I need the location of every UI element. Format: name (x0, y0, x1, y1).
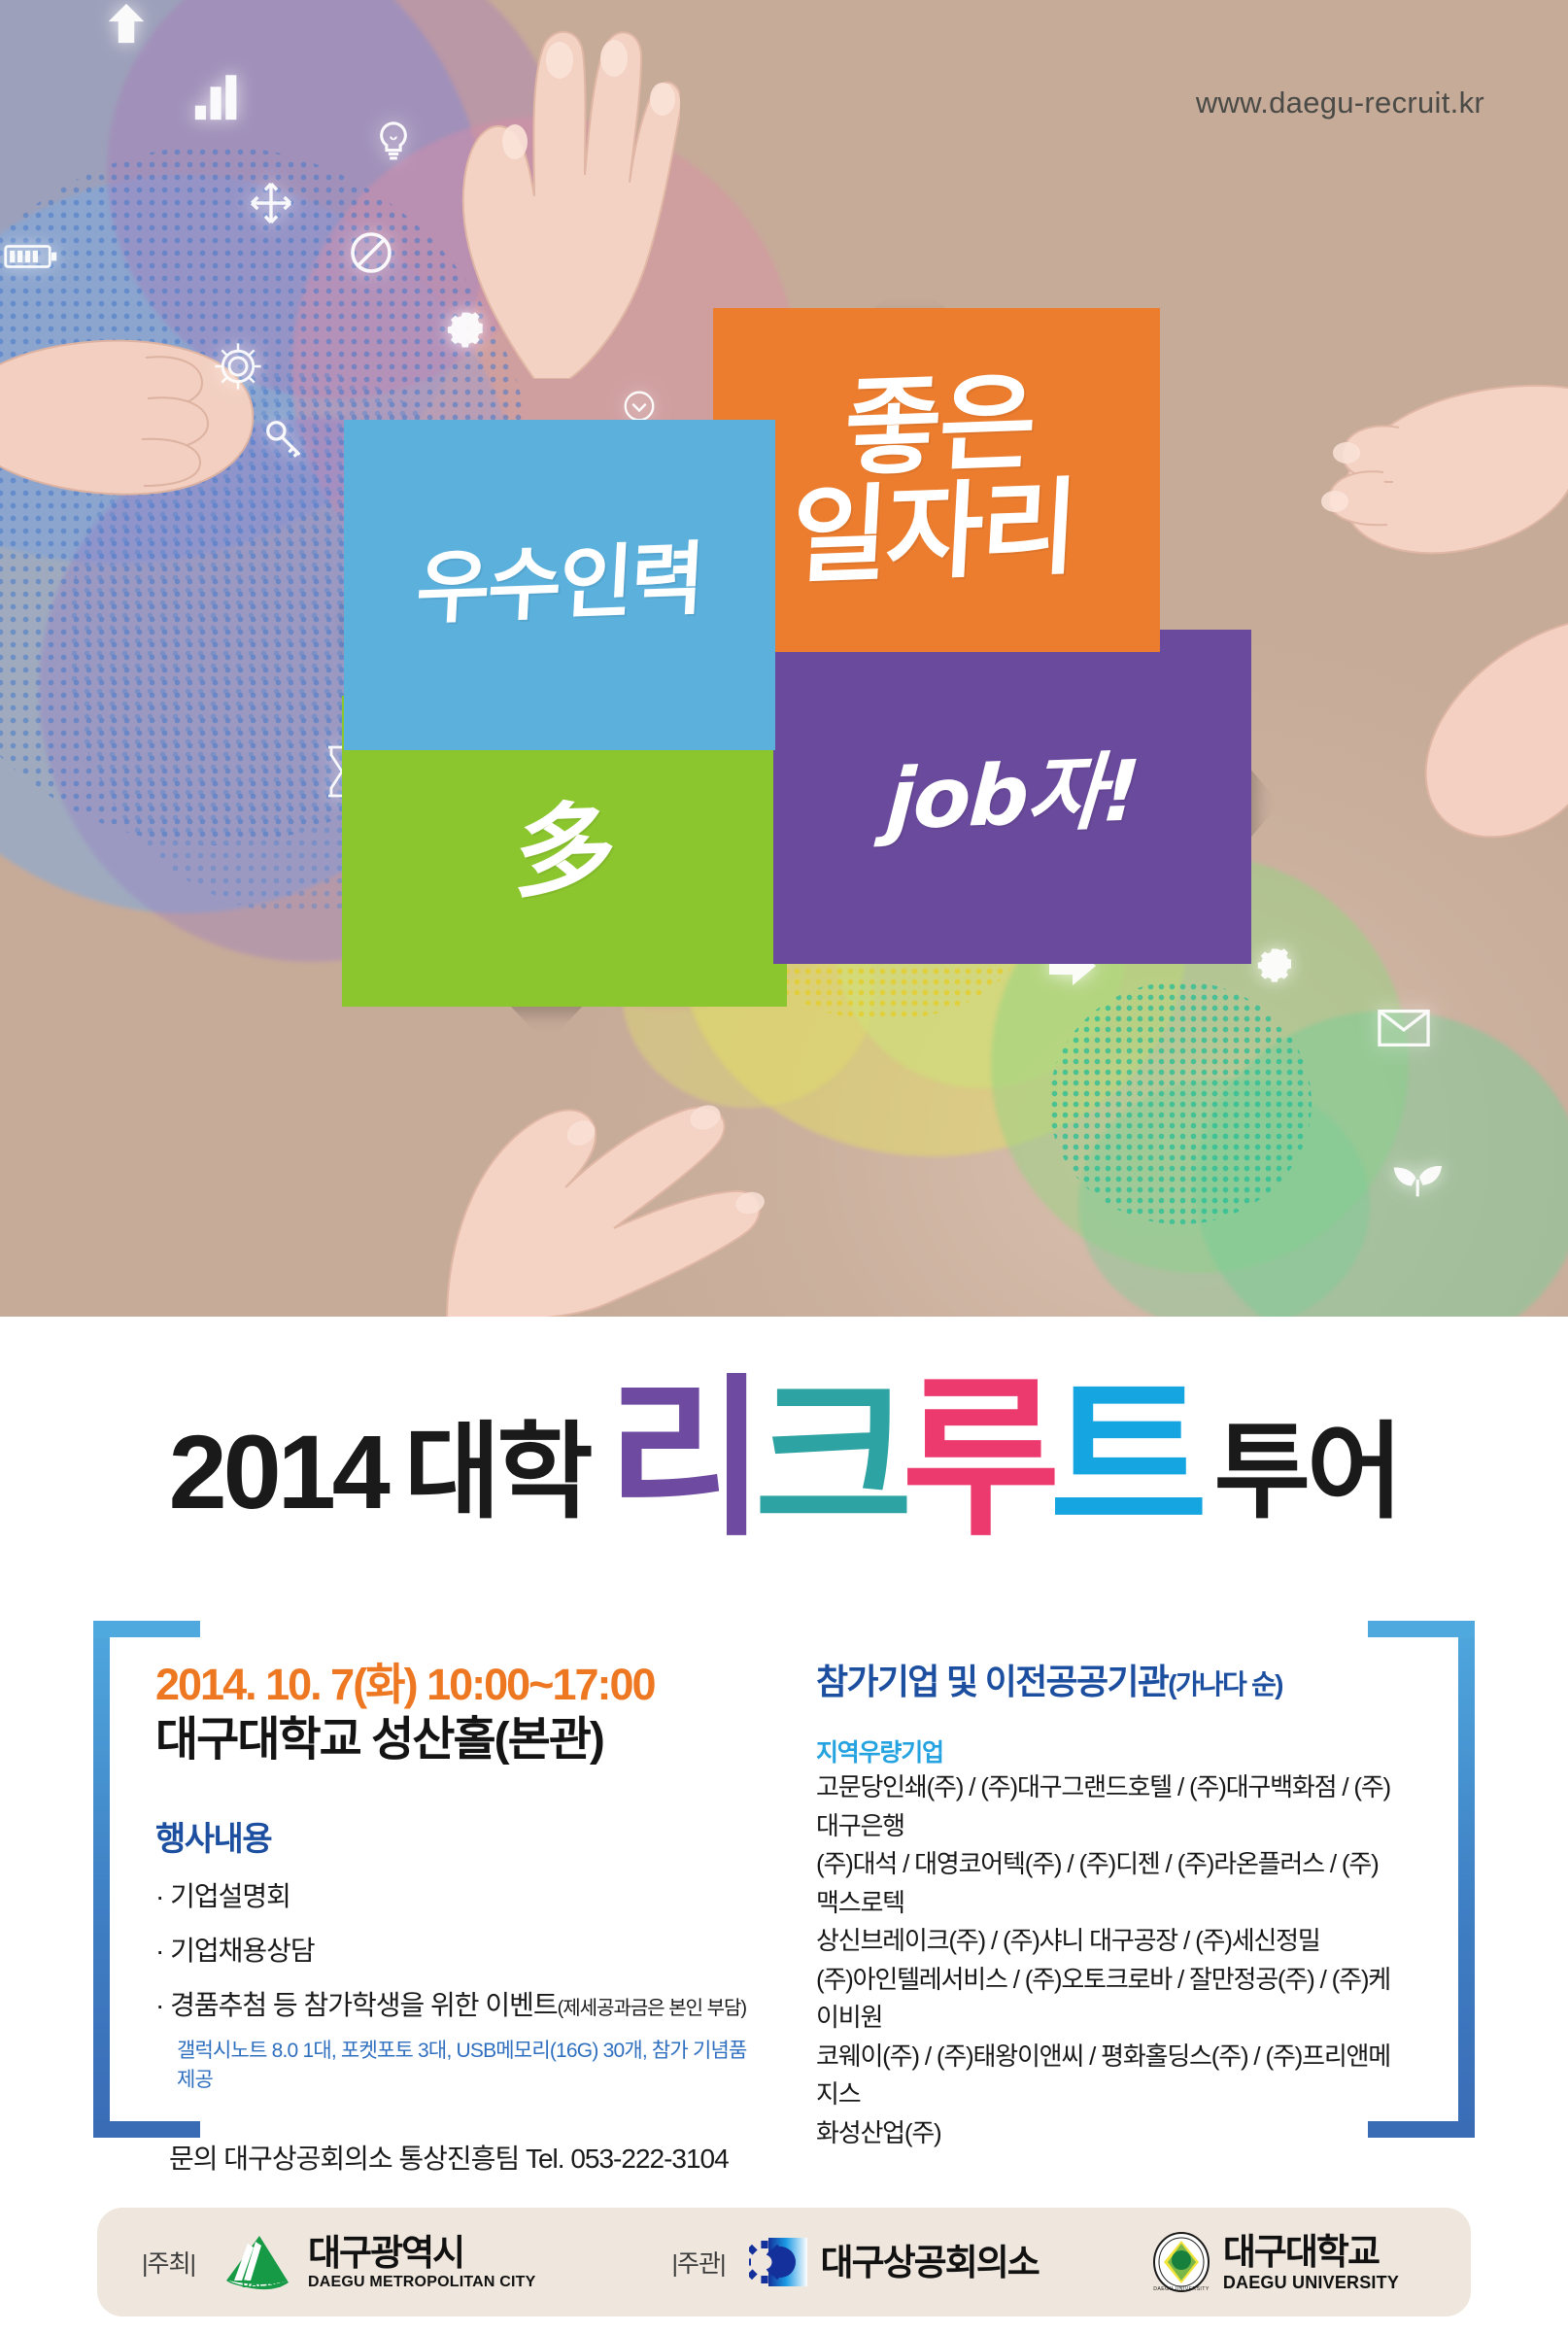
bullet-note: (제세공과금은 본인 부담) (558, 1998, 746, 2019)
leaf-icon (1391, 1154, 1444, 1201)
move-arrows-icon (248, 180, 294, 226)
university-name-en: DAEGU UNIVERSITY (1223, 2274, 1399, 2291)
title-tour-word: 투어 (1214, 1420, 1400, 1530)
company-line: (주)아인텔레서비스 / (주)오토크로바 / 잘만정공(주) / (주)케이비… (816, 1961, 1399, 2038)
list-item: · 기업설명회 (155, 1875, 758, 1914)
recruit-logotype: 리 크 루 트 (607, 1389, 1197, 1530)
participants-heading: 참가기업 및 이전공공기관(가나다 순) (816, 1654, 1399, 1704)
speech-bubble-purple: job자! (773, 630, 1251, 964)
participants-heading-text: 참가기업 및 이전공공기관 (816, 1662, 1168, 1701)
university-group: DAEGU UNIVERSITY 대구대학교 DAEGU UNIVERSITY (1151, 2232, 1399, 2292)
company-line: 화성산업(주) (816, 2114, 1399, 2153)
no-entry-icon (348, 229, 394, 276)
university-name-ko: 대구대학교 (1223, 2234, 1399, 2270)
logo-char-ri: 리 (607, 1389, 755, 1530)
company-line: 상신브레이크(주) / (주)샤니 대구공장 / (주)세신정밀 (816, 1922, 1399, 1961)
bubble-text-green: 多 (512, 798, 617, 905)
event-date: 2014. 10. 7(화) 10:00~17:00 (155, 1660, 758, 1710)
svg-text:DAEGU: DAEGU (242, 2279, 283, 2290)
bar-chart-icon (190, 68, 247, 124)
bullet-text: · 기업설명회 (155, 1881, 290, 1911)
hand-right-lower-illustration (1312, 583, 1568, 875)
company-line: 코웨이(주) / (주)태왕이앤씨 / 평화홀딩스(주) / (주)프리앤메지스 (816, 2038, 1399, 2114)
host-name-en: DAEGU METROPOLITAN CITY (308, 2275, 536, 2290)
battery-icon (4, 241, 58, 272)
speech-bubble-blue: 우수인력 (344, 420, 775, 750)
arrow-up-icon (105, 2, 148, 45)
key-icon (262, 416, 307, 461)
bullet-text: · 경품추첨 등 참가학생을 위한 이벤트 (155, 1990, 558, 2020)
company-line: (주)대석 / 대영코어텍(주) / (주)디젠 / (주)라온플러스 / (주… (816, 1845, 1399, 1922)
logo-char-keu: 크 (754, 1389, 902, 1530)
logo-char-ru: 루 (902, 1389, 1049, 1530)
logo-char-teu: 트 (1049, 1389, 1197, 1530)
host-tag: |주최| (142, 2245, 195, 2280)
info-section: 2014. 10. 7(화) 10:00~17:00 대구대학교 성산홀(본관)… (0, 1594, 1568, 2196)
chevron-down-icon (622, 389, 657, 424)
prize-note: 갤럭시노트 8.0 1대, 포켓포토 3대, USB메모리(16G) 30개, … (177, 2035, 758, 2093)
organizer-group: |주관| (672, 2234, 1039, 2290)
organizer-tag: |주관| (672, 2245, 726, 2280)
university-name-block: 대구대학교 DAEGU UNIVERSITY (1223, 2234, 1399, 2291)
host-group: |주최| DAEGU 대구광역시 DAEGU METROPOLITAN CITY (142, 2232, 536, 2292)
contact-info: 문의 대구상공회의소 통상진흥팀 Tel. 053-222-3104 (169, 2138, 758, 2177)
company-line: 고문당인쇄(주) / (주)대구그랜드호텔 / (주)대구백화점 / (주)대구… (816, 1768, 1399, 1845)
event-contents-heading: 행사내용 (155, 1812, 758, 1860)
gear-icon (1257, 947, 1296, 986)
local-companies-label: 지역우량기업 (816, 1733, 1399, 1768)
host-name-ko: 대구광역시 (308, 2235, 536, 2271)
title-year: 2014 (169, 1420, 387, 1530)
gear-icon (447, 311, 488, 352)
participating-companies-column: 참가기업 및 이전공공기관(가나다 순) 지역우량기업 고문당인쇄(주) / (… (816, 1654, 1399, 2293)
hero-banner: 多 job자! 좋은 일자리 우수인력 www.daegu-recruit.kr (0, 0, 1568, 1317)
daegu-university-seal-icon: DAEGU UNIVERSITY (1151, 2232, 1211, 2292)
bullet-text: · 기업채용상담 (155, 1936, 315, 1966)
gear-outline-icon (212, 340, 264, 393)
dcci-gear-logo-icon (749, 2234, 809, 2290)
svg-text:DAEGU UNIVERSITY: DAEGU UNIVERSITY (1153, 2286, 1210, 2292)
lightbulb-icon (371, 119, 416, 163)
list-item: · 기업채용상담 (155, 1930, 758, 1969)
participants-heading-paren: (가나다 순) (1168, 1669, 1282, 1699)
organizer-name-ko: 대구상공회의소 (821, 2245, 1039, 2281)
poster-title: 2014 대학 리 크 루 트 투어 (0, 1355, 1568, 1530)
event-details-column: 2014. 10. 7(화) 10:00~17:00 대구대학교 성산홀(본관)… (155, 1660, 758, 2177)
hand-top-left-illustration (389, 0, 680, 379)
bubble-text-blue: 우수인력 (415, 539, 705, 631)
host-name-block: 대구광역시 DAEGU METROPOLITAN CITY (308, 2235, 536, 2290)
footer-sponsors-bar: |주최| DAEGU 대구광역시 DAEGU METROPOLITAN CITY… (97, 2208, 1471, 2316)
envelope-icon (1378, 1008, 1430, 1048)
hand-left-fist-illustration (0, 253, 282, 544)
bubble-text-orange: 좋은 일자리 (789, 368, 1084, 592)
list-item: · 경품추첨 등 참가학생을 위한 이벤트(제세공과금은 본인 부담) (155, 1984, 758, 2023)
daegu-city-logo-icon: DAEGU (221, 2232, 296, 2292)
bubble-text-purple: job자! (884, 750, 1141, 844)
halftone-dots (1049, 981, 1312, 1224)
event-venue: 대구대학교 성산홀(본관) (155, 1712, 758, 1768)
website-url[interactable]: www.daegu-recruit.kr (1196, 86, 1484, 120)
title-univ-word: 대학 (404, 1420, 590, 1530)
speech-bubble-orange: 좋은 일자리 (713, 308, 1160, 652)
